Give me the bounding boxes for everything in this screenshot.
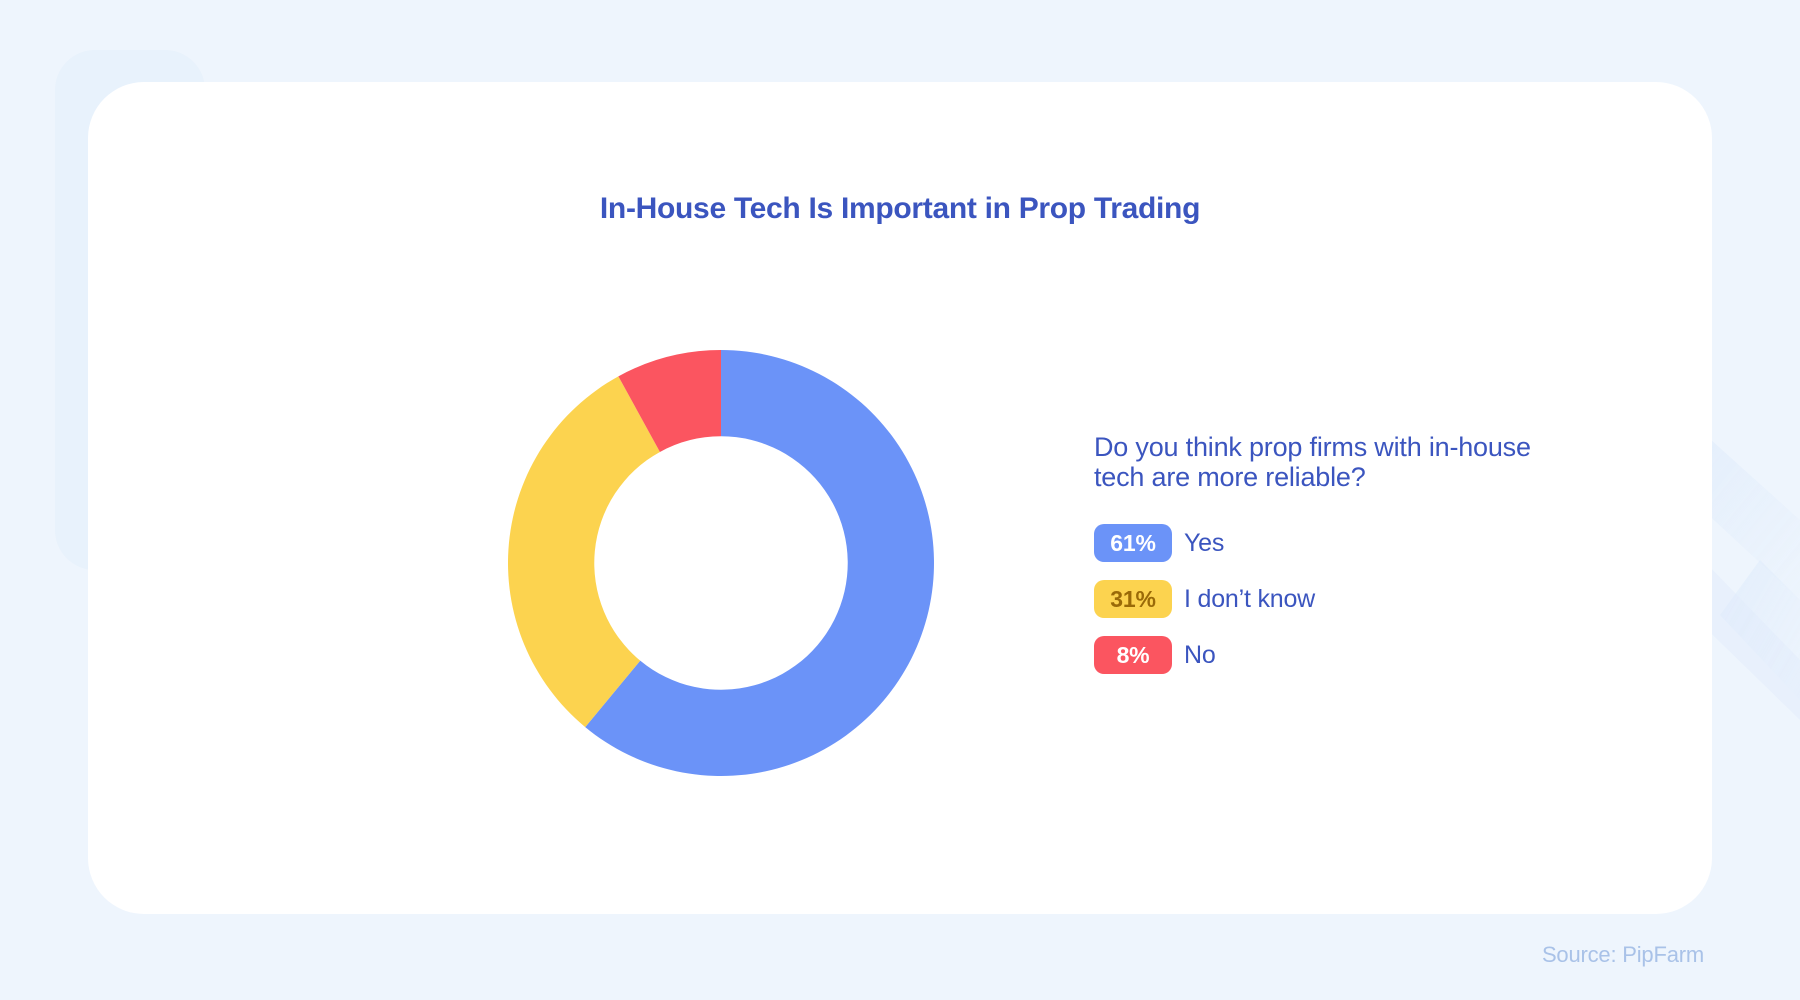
legend-percent-badge: 61%	[1094, 524, 1172, 562]
legend-percent-badge: 8%	[1094, 636, 1172, 674]
legend-item[interactable]: 8%No	[1094, 636, 1614, 674]
legend-percent-badge: 31%	[1094, 580, 1172, 618]
legend-item-label: I don’t know	[1184, 585, 1315, 614]
legend-item[interactable]: 31%I don’t know	[1094, 580, 1614, 618]
page-title: In-House Tech Is Important in Prop Tradi…	[88, 192, 1712, 226]
legend-list: 61%Yes31%I don’t know8%No	[1094, 524, 1614, 674]
chart-card: In-House Tech Is Important in Prop Tradi…	[88, 82, 1712, 914]
source-note: Source: PipFarm	[1542, 942, 1704, 968]
legend-question: Do you think prop firms with in-house te…	[1094, 432, 1539, 492]
legend-item-label: No	[1184, 641, 1216, 670]
donut-chart-svg	[505, 347, 937, 779]
donut-slice-group	[508, 350, 934, 776]
donut-chart	[505, 347, 937, 779]
legend-item[interactable]: 61%Yes	[1094, 524, 1614, 562]
legend-item-label: Yes	[1184, 529, 1224, 558]
legend-panel: Do you think prop firms with in-house te…	[1094, 432, 1614, 674]
